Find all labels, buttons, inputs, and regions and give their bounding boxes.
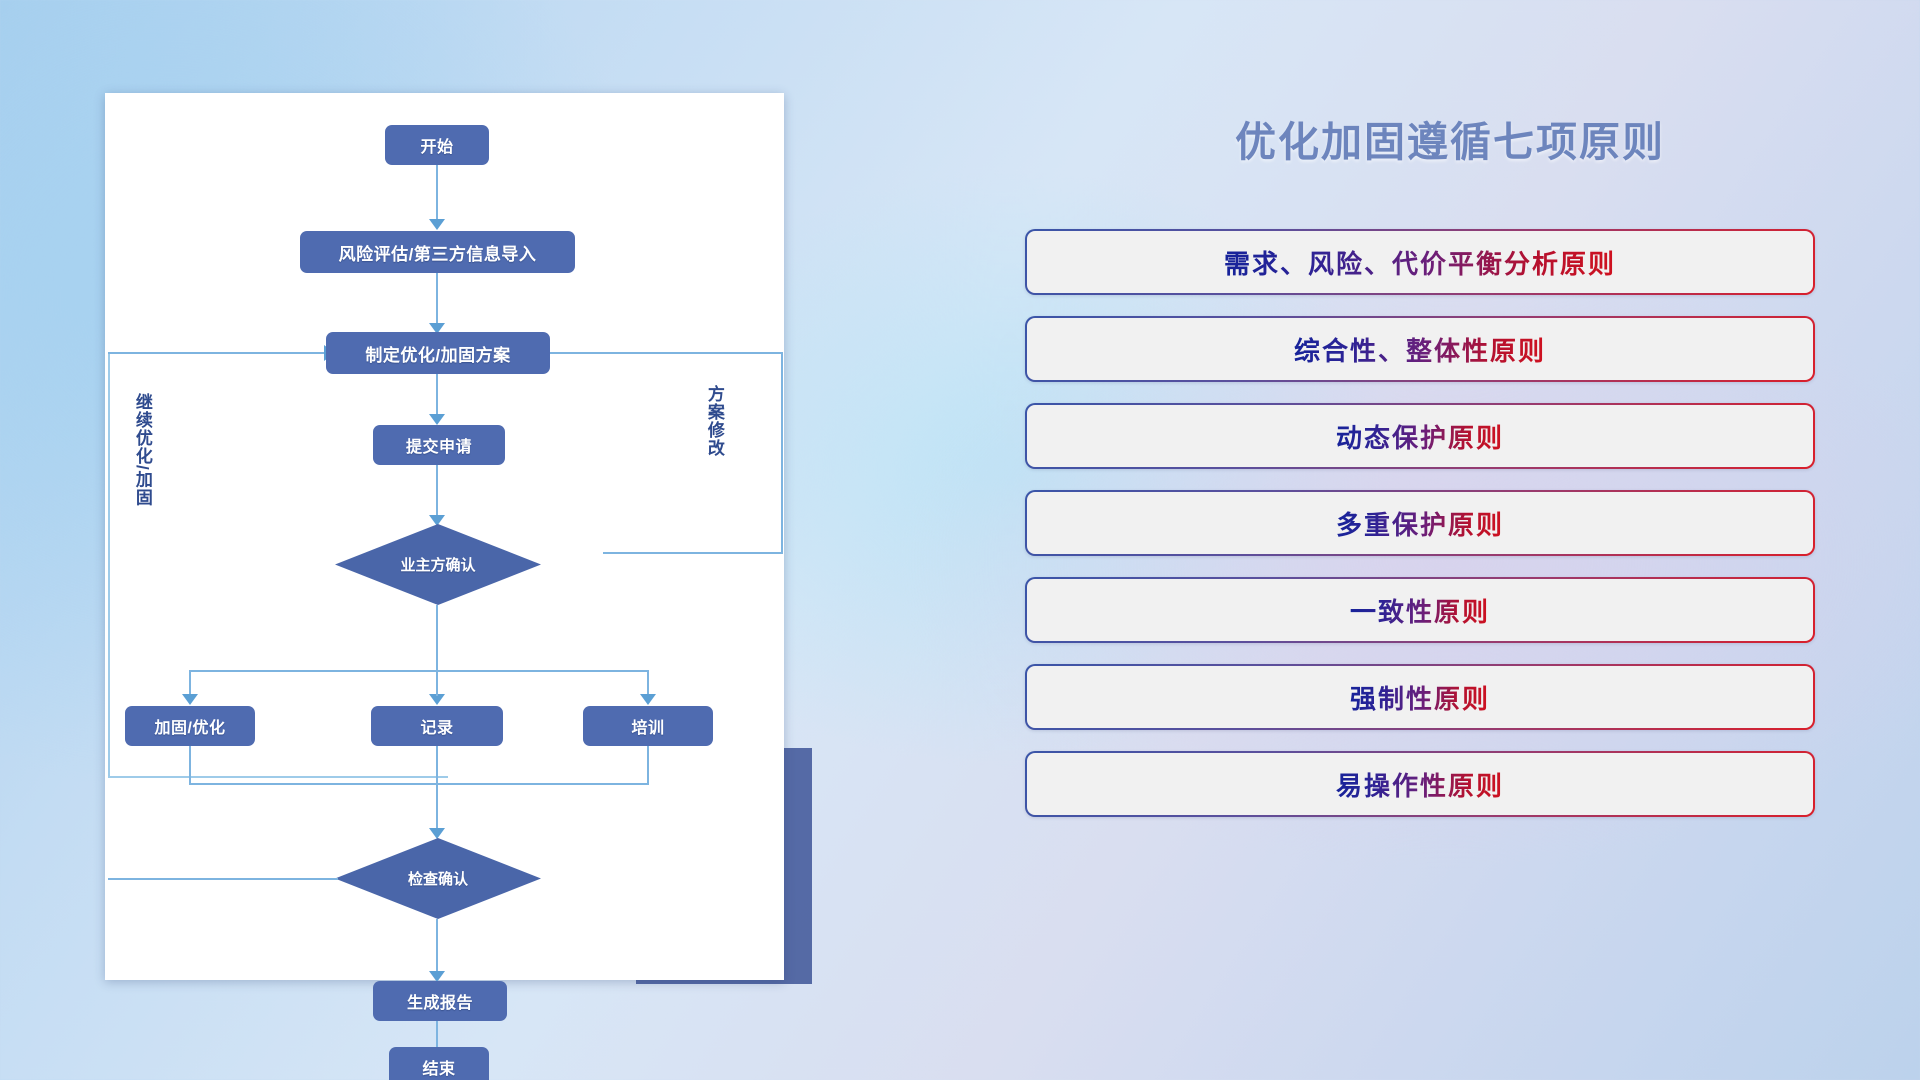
flow-node-generate-report[interactable]: 生成报告 xyxy=(373,981,507,1021)
merge-right-riser xyxy=(647,746,649,785)
merge-to-check xyxy=(436,746,438,830)
split-bus-right-arrow-icon xyxy=(640,694,656,705)
flow-node-end[interactable]: 结束 xyxy=(389,1047,489,1080)
flow-node-reinforce-optimize[interactable]: 加固/优化 xyxy=(125,706,255,746)
split-bus-right-drop xyxy=(647,670,649,696)
flow-node-submit-application-label: 提交申请 xyxy=(406,433,472,457)
split-bus-left-arrow-icon xyxy=(182,694,198,705)
edge-submit-to-owner-arrow-icon xyxy=(429,515,445,526)
edge-risk-to-plan xyxy=(436,273,438,325)
flowchart-panel: 继续优化/加固 方案修改 开始 风险评估/第三方信息导入 制定优化/加固方案 提… xyxy=(0,0,860,1080)
flow-node-generate-report-label: 生成报告 xyxy=(407,989,473,1013)
left-loop-top-segment xyxy=(108,352,326,354)
principle-item-3[interactable]: 动态保护原则 xyxy=(1025,403,1815,469)
flow-node-record-label: 记录 xyxy=(420,714,453,738)
edge-plan-to-submit xyxy=(436,374,438,416)
flow-node-end-label: 结束 xyxy=(422,1055,455,1079)
merge-bus-horizontal xyxy=(189,783,649,785)
left-loop-label: 继续优化/加固 xyxy=(133,393,151,507)
principle-item-5-label: 一致性原则 xyxy=(1350,592,1490,629)
principle-item-7[interactable]: 易操作性原则 xyxy=(1025,751,1815,817)
flow-node-start[interactable]: 开始 xyxy=(385,125,489,165)
principles-panel: 优化加固遵循七项原则 需求、风险、代价平衡分析原则 综合性、整体性原则 动态保护… xyxy=(1020,0,1920,1080)
flow-node-risk-assessment-label: 风险评估/第三方信息导入 xyxy=(339,240,537,265)
flow-node-risk-assessment[interactable]: 风险评估/第三方信息导入 xyxy=(300,231,575,273)
flowchart-card: 继续优化/加固 方案修改 开始 风险评估/第三方信息导入 制定优化/加固方案 提… xyxy=(105,93,784,980)
principle-item-7-label: 易操作性原则 xyxy=(1336,766,1504,803)
merge-left-riser xyxy=(189,746,191,785)
edge-start-to-risk-arrow-icon xyxy=(429,219,445,230)
check-to-left-loop xyxy=(108,878,338,880)
flow-node-submit-application[interactable]: 提交申请 xyxy=(373,425,505,465)
principle-item-1[interactable]: 需求、风险、代价平衡分析原则 xyxy=(1025,229,1815,295)
split-bus-center-drop xyxy=(436,670,438,696)
flow-node-record[interactable]: 记录 xyxy=(371,706,503,746)
flow-node-training[interactable]: 培训 xyxy=(583,706,713,746)
right-loop-bottom-segment xyxy=(603,552,783,554)
right-loop-label: 方案修改 xyxy=(705,385,723,457)
principle-list: 需求、风险、代价平衡分析原则 综合性、整体性原则 动态保护原则 多重保护原则 一… xyxy=(1025,229,1815,838)
right-loop-vertical-segment xyxy=(781,352,783,553)
principle-item-1-label: 需求、风险、代价平衡分析原则 xyxy=(1224,244,1616,281)
principle-item-4[interactable]: 多重保护原则 xyxy=(1025,490,1815,556)
split-bus-left-drop xyxy=(189,670,191,696)
flow-node-reinforce-optimize-label: 加固/优化 xyxy=(155,714,226,738)
edge-start-to-risk xyxy=(436,165,438,221)
flow-node-check-confirm-label: 检查确认 xyxy=(408,868,468,889)
principle-item-5[interactable]: 一致性原则 xyxy=(1025,577,1815,643)
principle-item-2[interactable]: 综合性、整体性原则 xyxy=(1025,316,1815,382)
edge-owner-to-bus xyxy=(436,605,438,671)
merge-to-check-arrow-icon xyxy=(429,828,445,839)
flow-node-plan[interactable]: 制定优化/加固方案 xyxy=(326,332,550,374)
flow-node-plan-label: 制定优化/加固方案 xyxy=(365,341,510,366)
flow-node-owner-confirm-label: 业主方确认 xyxy=(400,554,475,575)
principle-item-6[interactable]: 强制性原则 xyxy=(1025,664,1815,730)
principle-item-2-label: 综合性、整体性原则 xyxy=(1294,331,1546,368)
edge-submit-to-owner xyxy=(436,465,438,517)
flow-node-start-label: 开始 xyxy=(420,133,453,157)
edge-plan-to-submit-arrow-icon xyxy=(429,414,445,425)
principle-item-4-label: 多重保护原则 xyxy=(1336,505,1504,542)
flow-node-check-confirm[interactable]: 检查确认 xyxy=(335,838,541,919)
flow-node-training-label: 培训 xyxy=(631,714,664,738)
split-bus-horizontal xyxy=(189,670,649,672)
principle-item-6-label: 强制性原则 xyxy=(1350,679,1490,716)
edge-check-to-report xyxy=(436,919,438,973)
principle-item-3-label: 动态保护原则 xyxy=(1336,418,1504,455)
page-title: 优化加固遵循七项原则 xyxy=(1020,108,1880,168)
